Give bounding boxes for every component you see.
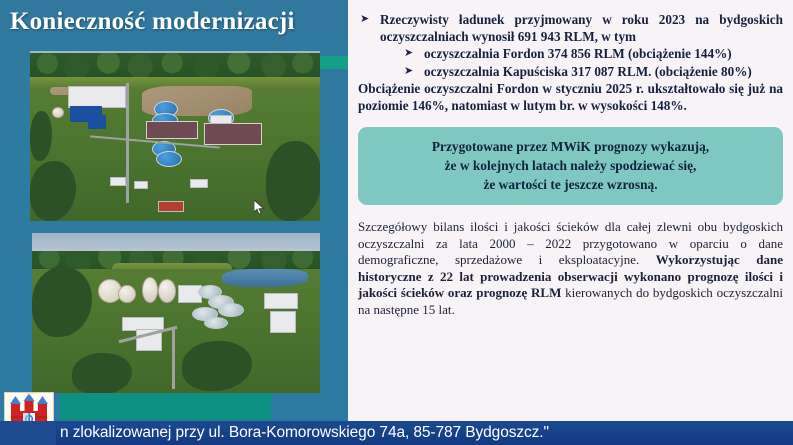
callout-line-2: że w kolejnych latach należy spodziewać …: [370, 156, 771, 175]
caption-text: n zlokalizowanej przy ul. Bora-Komorowsk…: [60, 424, 549, 442]
accent-bar: [318, 56, 348, 69]
bullet-main: Rzeczywisty ładunek przyjmowany w roku 2…: [358, 12, 783, 45]
left-panel: Konieczność modernizacji: [0, 0, 348, 445]
image-oczyszczalnia-kapusciska-aerial: [32, 233, 320, 393]
paragraph-balance: Szczegółowy bilans ilości i jakości ście…: [358, 219, 783, 319]
callout-box: Przygotowane przez MWiK prognozy wykazuj…: [358, 127, 783, 205]
footer-accent-bar: [60, 393, 271, 420]
presentation-slide: Konieczność modernizacji: [0, 0, 793, 445]
image-oczyszczalnia-fordon-aerial: [30, 51, 320, 221]
content-panel: Rzeczywisty ładunek przyjmowany w roku 2…: [348, 0, 793, 445]
caption-bar-left-fill: [0, 421, 56, 445]
page-title: Konieczność modernizacji: [10, 8, 340, 36]
paragraph-fordon-load: Obciążenie oczyszczalni Fordon w styczni…: [358, 81, 783, 114]
bullet-sub-fordon: oczyszczalnia Fordon 374 856 RLM (obciąż…: [398, 46, 783, 63]
callout-line-1: Przygotowane przez MWiK prognozy wykazuj…: [370, 137, 771, 156]
callout-line-3: że wartości te jeszcze wzrosną.: [370, 175, 771, 194]
caption-bar: n zlokalizowanej przy ul. Bora-Komorowsk…: [56, 421, 793, 445]
bullet-sub-kapusciska: oczyszczalnia Kapuściska 317 087 RLM. (o…: [398, 64, 783, 81]
